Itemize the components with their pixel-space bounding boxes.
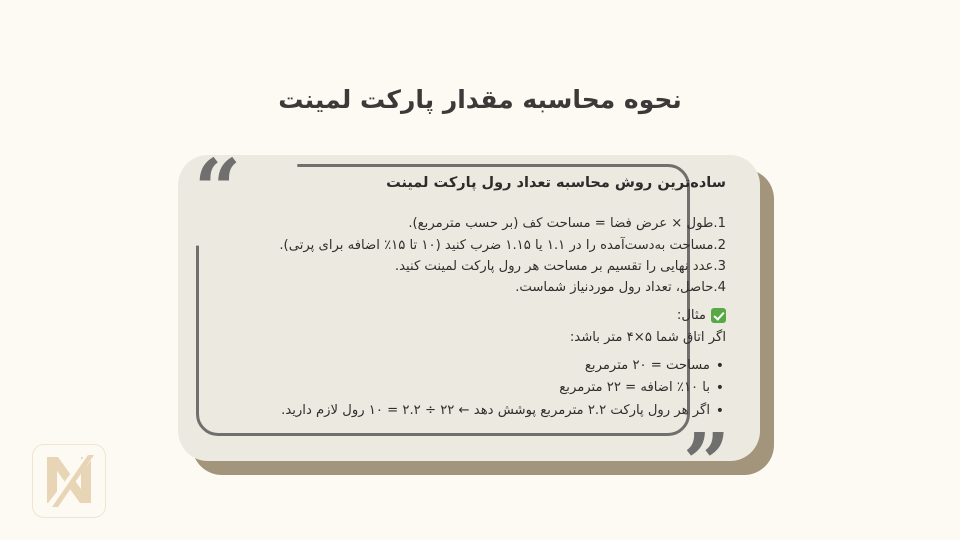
example-bullets: مساحت = ۲۰ مترمربع با ۱۰٪ اضافه = ۲۲ متر… xyxy=(264,355,726,423)
example-header: مثال: xyxy=(264,305,726,326)
step-item: 3.عدد نهایی را تقسیم بر مساحت هر رول پار… xyxy=(264,256,726,277)
card-content: ساده‌ترین روش محاسبه تعداد رول پارکت لمی… xyxy=(264,173,726,423)
list-item: اگر هر رول پارکت ۲.۲ مترمربع پوشش دهد ← … xyxy=(264,400,726,423)
check-mark-icon xyxy=(711,308,726,323)
list-item: با ۱۰٪ اضافه = ۲۲ مترمربع xyxy=(264,377,726,400)
list-item: مساحت = ۲۰ مترمربع xyxy=(264,355,726,378)
quote-close-icon: ” xyxy=(683,423,730,461)
step-item: 4.حاصل، تعداد رول موردنیاز شماست. xyxy=(264,277,726,298)
brand-logo xyxy=(32,444,106,518)
logo-n-icon xyxy=(33,445,105,517)
quote-card: “ ” ساده‌ترین روش محاسبه تعداد رول پارکت… xyxy=(178,155,774,475)
card-surface: “ ” ساده‌ترین روش محاسبه تعداد رول پارکت… xyxy=(178,155,760,461)
card-heading: ساده‌ترین روش محاسبه تعداد رول پارکت لمی… xyxy=(264,173,726,193)
step-item: 1.طول × عرض فضا = مساحت کف (بر حسب مترمر… xyxy=(264,213,726,234)
example-room-dimensions: اگر اتاق شما ۵×۴ متر باشد: xyxy=(264,327,726,348)
step-item: 2.مساحت به‌دست‌آمده را در ۱.۱ یا ۱.۱۵ ضر… xyxy=(264,235,726,256)
example-label: مثال: xyxy=(677,305,706,326)
quote-open-icon: “ xyxy=(194,155,241,231)
steps-list: 1.طول × عرض فضا = مساحت کف (بر حسب مترمر… xyxy=(264,213,726,299)
page-title: نحوه محاسبه مقدار پارکت لمینت xyxy=(0,84,960,117)
